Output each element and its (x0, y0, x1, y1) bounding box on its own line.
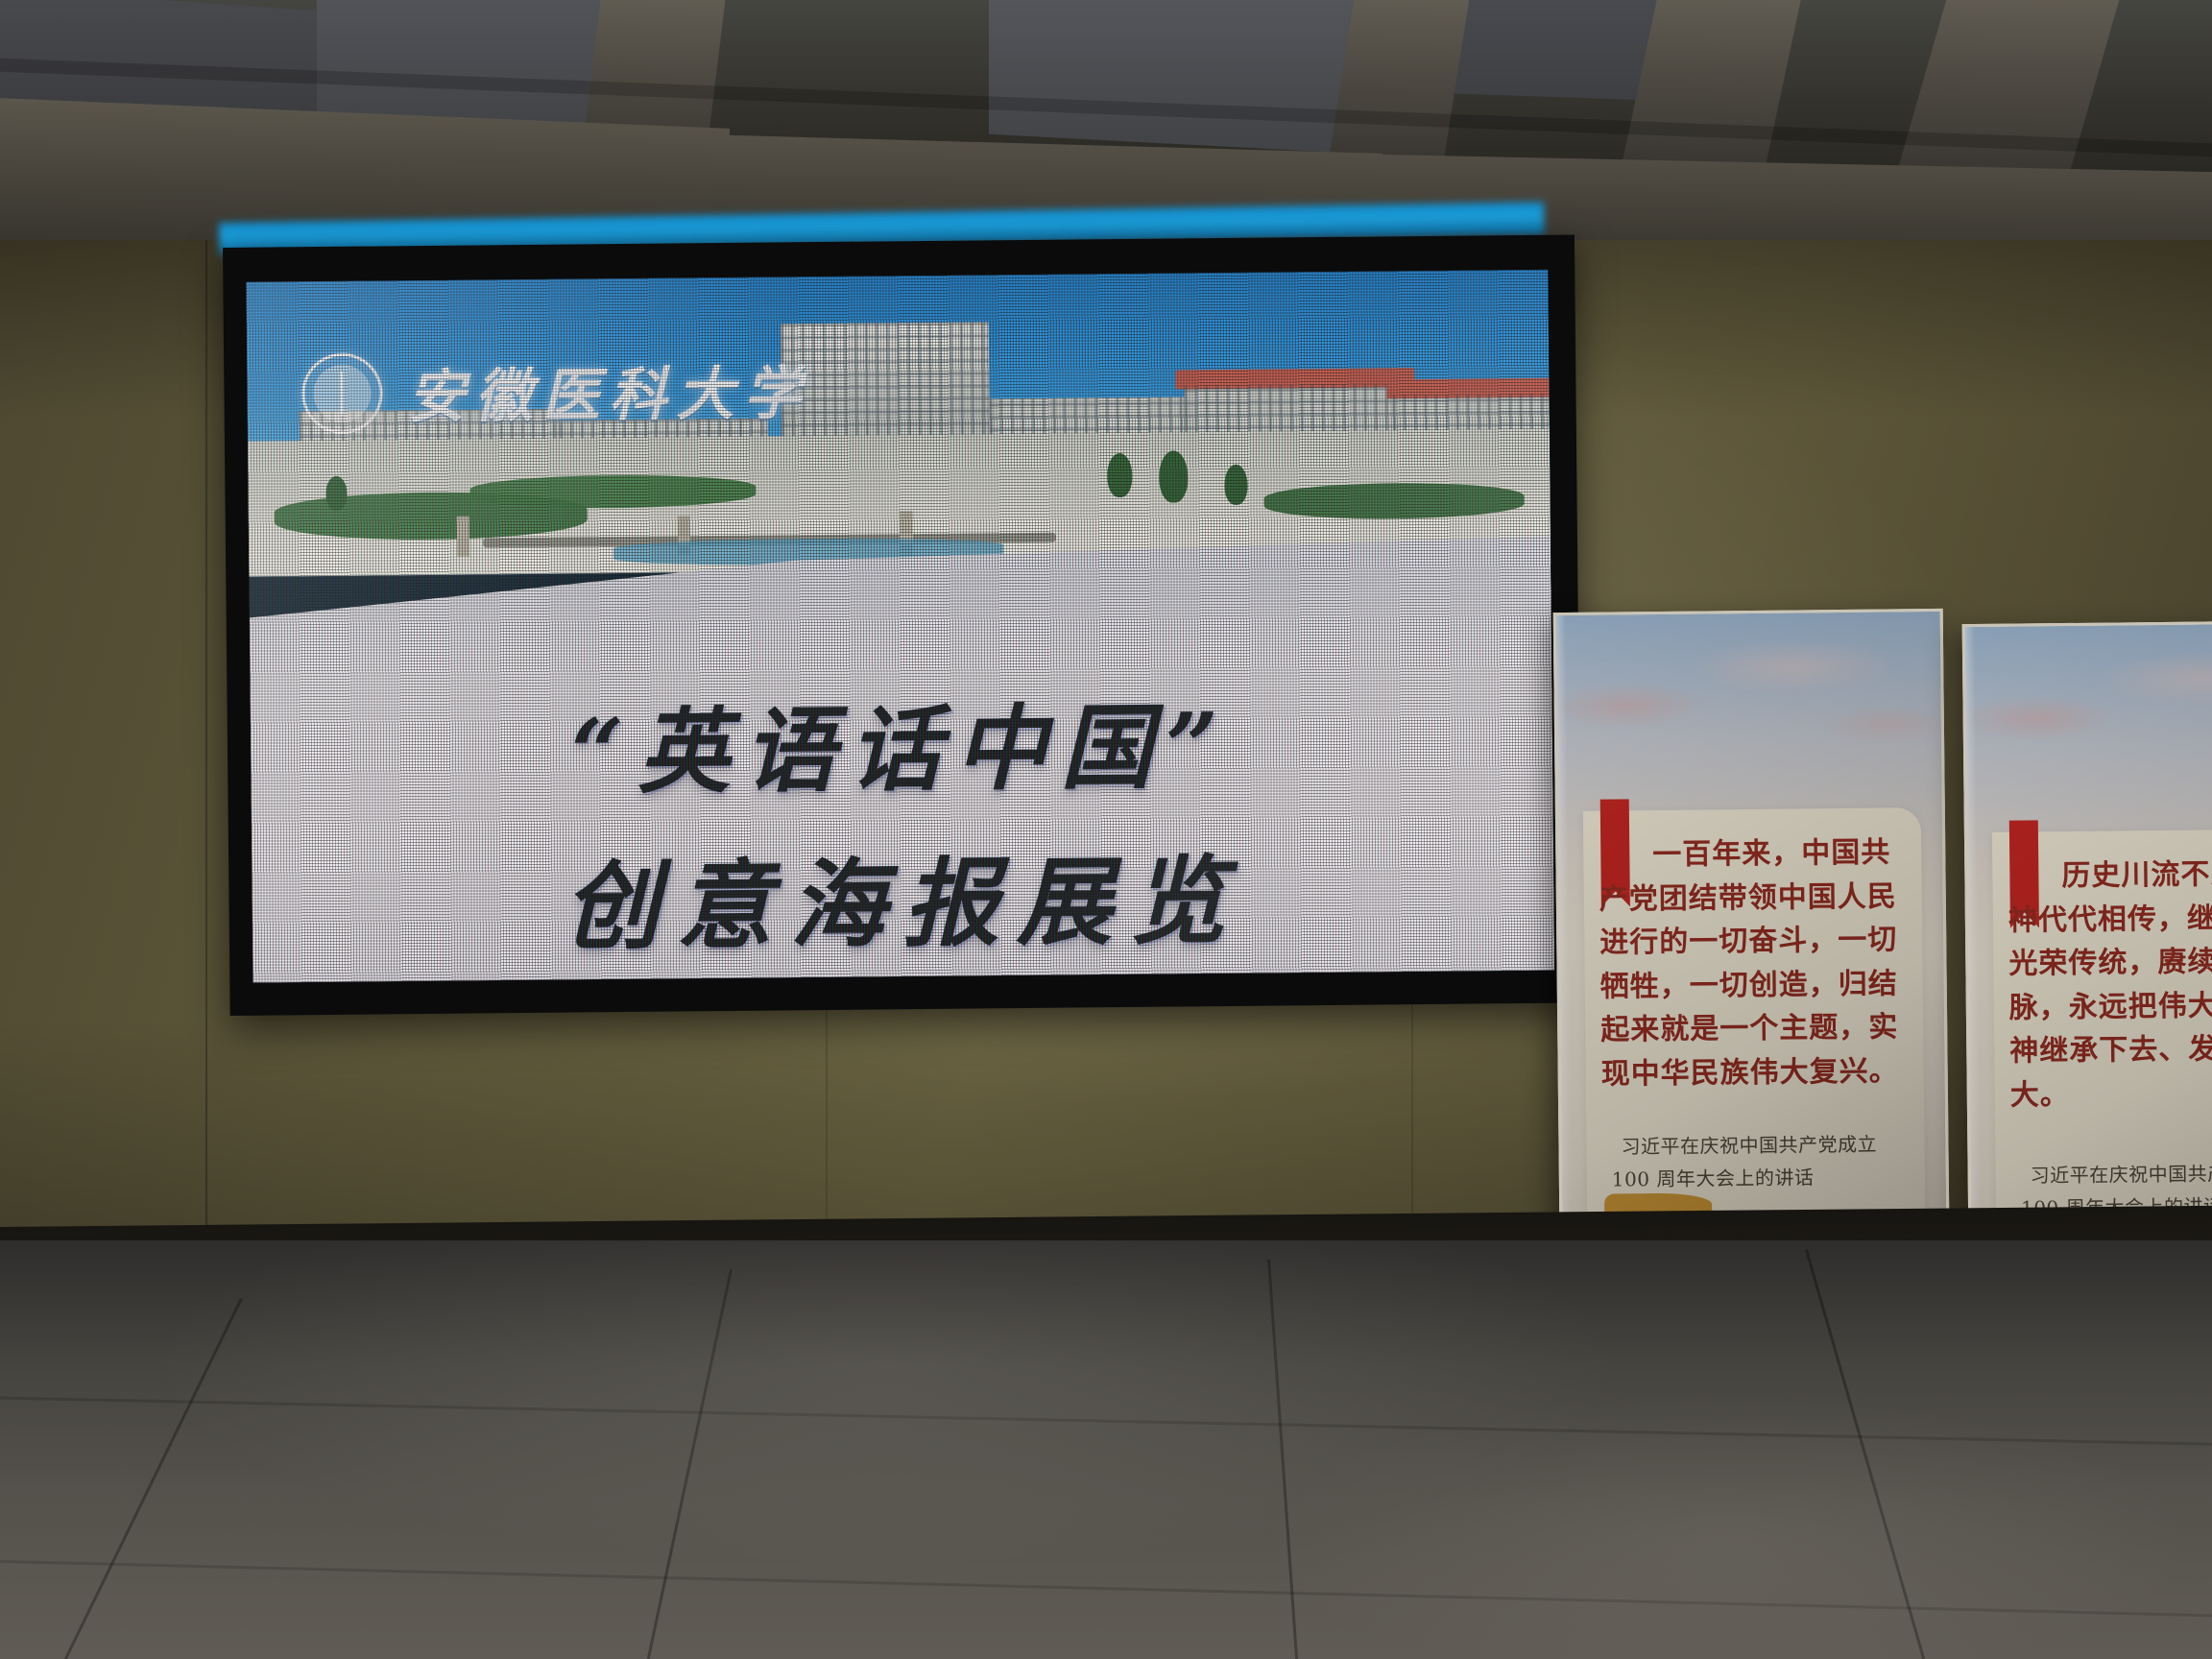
banner-quote-text: 一百年来，中国共产党团结带领中国人民进行的一切奋斗，一切牺牲，一切创造，归结起来… (1599, 830, 1914, 1096)
headline-line-2: 创意海报展览 (252, 820, 1554, 972)
led-active-area: 安徽医科大学 “英语话中国” 创意海报展览 (246, 270, 1554, 983)
floor-tile-seam (0, 1394, 2212, 1452)
campus-tree (1224, 465, 1247, 505)
campus-tree (326, 476, 348, 511)
wall-seam (205, 240, 207, 1238)
banner-attribution-line-1: 习近平在庆祝中国共产党成立 (1621, 1128, 1909, 1162)
floor-tile-seam (1805, 1249, 1956, 1659)
floor-tile-seam (38, 1298, 243, 1659)
headline-line-1: “英语话中国” (250, 669, 1552, 815)
university-mark: 安徽医科大学 (301, 347, 811, 435)
floor-reflection (0, 1240, 2212, 1659)
floor-tile-seam (626, 1269, 733, 1659)
campus-tree (1107, 453, 1132, 497)
led-display-screen: 安徽医科大学 “英语话中国” 创意海报展览 (223, 234, 1582, 1015)
floor-tile-seam (0, 1557, 2212, 1623)
floor-tile-seam (1267, 1260, 1307, 1659)
university-seal-icon (301, 352, 383, 434)
photo-scene: 安徽医科大学 “英语话中国” 创意海报展览 一百年来，中国共产党团结带领中国人民… (0, 0, 2212, 1659)
university-name: 安徽医科大学 (407, 347, 811, 434)
floor (0, 1240, 2212, 1659)
banner-quote-text: 历史川流不息，精神代代相传，继续弘扬光荣传统，赓续红色血脉，永远把伟大建党精神继… (2008, 852, 2212, 1118)
led-headline: “英语话中国” 创意海报展览 (250, 669, 1554, 972)
campus-tree (1159, 451, 1189, 503)
plaza-pillar (457, 517, 469, 557)
